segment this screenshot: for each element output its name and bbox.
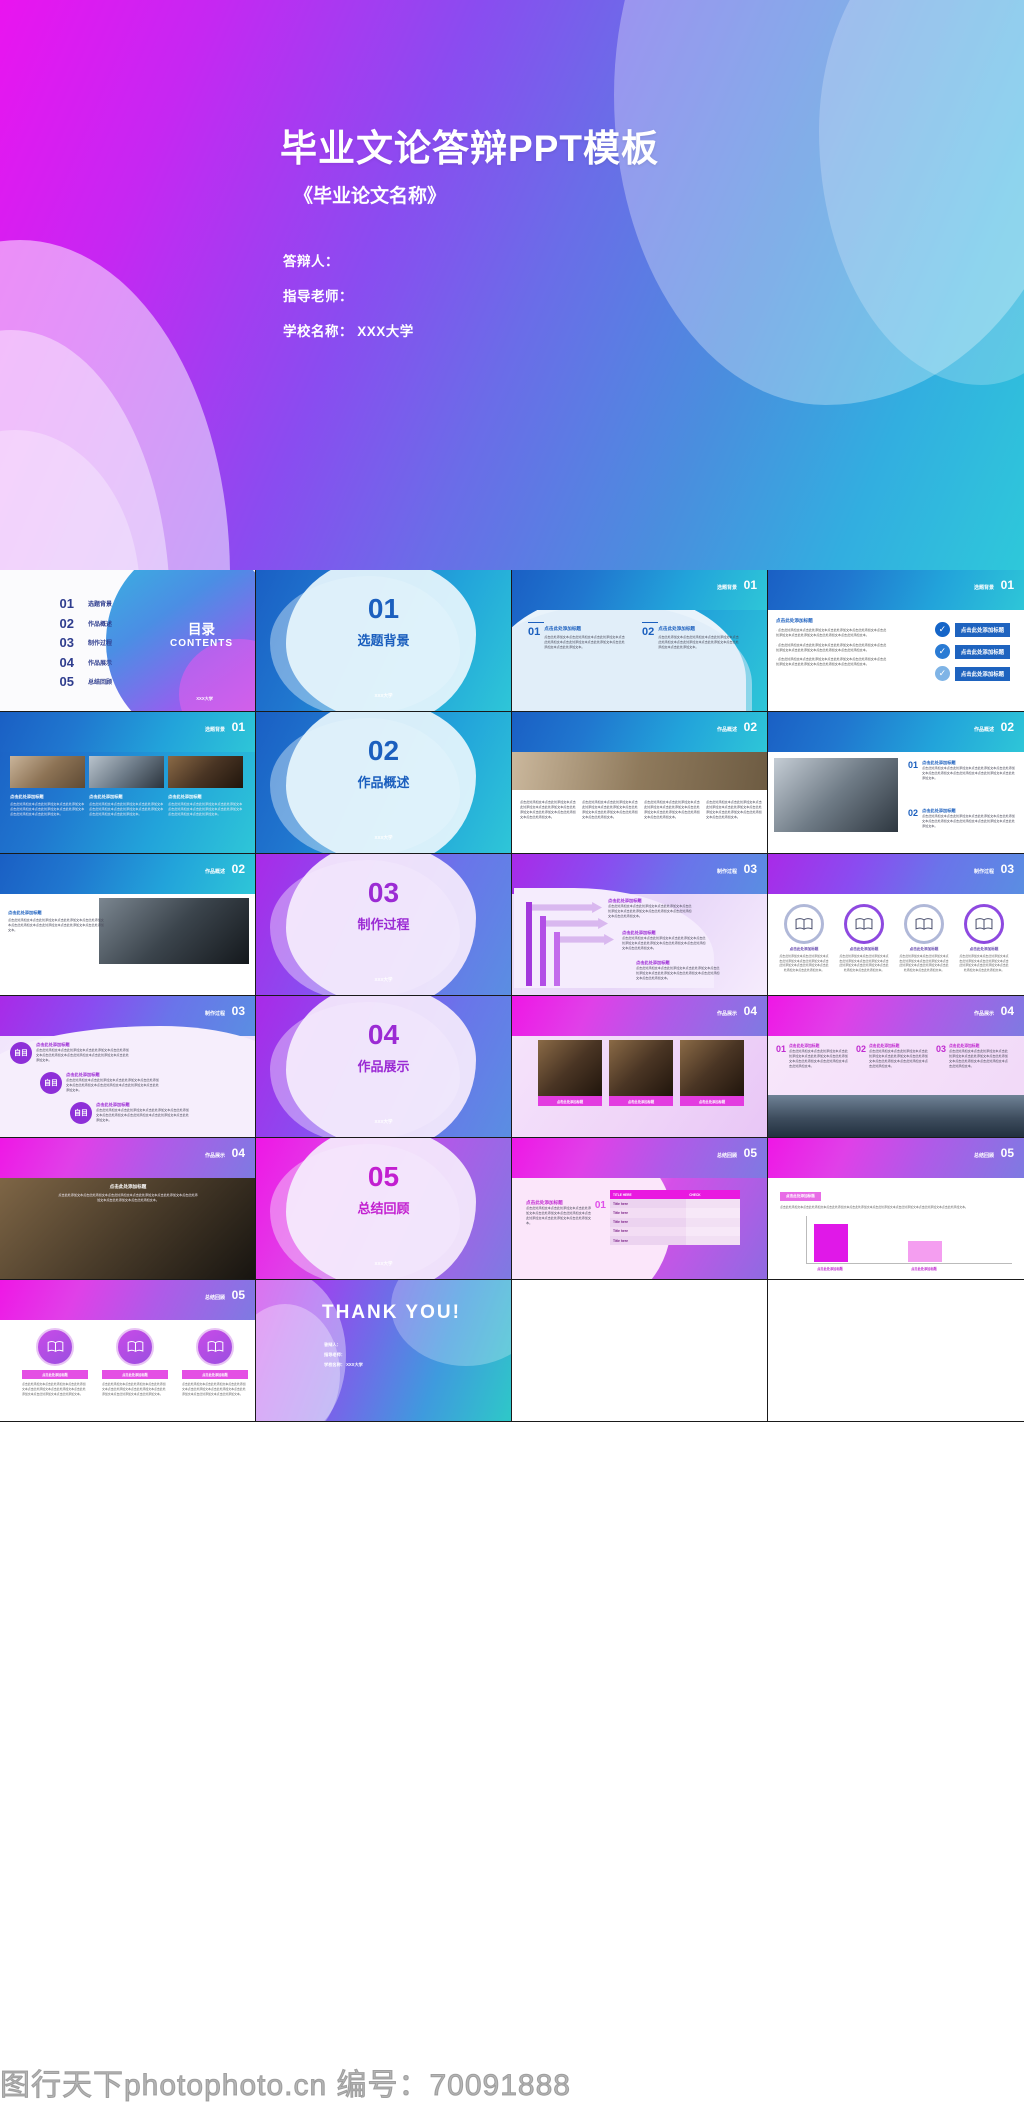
thank-you-slide: THANK YOU! 答辩人： 指导老师： 学校名称： XXX大学 bbox=[256, 1280, 511, 1421]
section-divider-slide: 01 选题背景 XXX大学 bbox=[256, 570, 511, 711]
block-number: 02 bbox=[642, 626, 654, 638]
table-row: Title here bbox=[610, 1208, 740, 1217]
circle-title: 点击此处添加标题 bbox=[778, 947, 830, 952]
slide-header-tag: 作品概述 bbox=[974, 726, 994, 733]
toc-item[interactable]: 01 选题背景 bbox=[40, 596, 112, 611]
divider-rule bbox=[528, 622, 544, 623]
circle-item: 点击此处添加标题 点击此处添加文本点击此处添加文本点击此处添加文本点击此处添加文… bbox=[102, 1328, 168, 1396]
page-subtitle: 《毕业论文名称》 bbox=[294, 181, 659, 208]
step-text: 点击此处添加标题点击此处添加文本点击此处添加文本点击此处添加文本点击此处添加文本… bbox=[608, 898, 692, 919]
slide-thumbnail[interactable]: 选题背景 01 点击此处添加标题 点击此处添加文本点击此处添加文本点击此处添加文… bbox=[0, 712, 256, 854]
slide-thumbnail[interactable]: 02 作品概述 XXX大学 bbox=[256, 712, 512, 854]
slide-header-tag: 选题背景 bbox=[974, 584, 994, 591]
check-icon: ✓ bbox=[935, 666, 950, 681]
table-cell-title: Title here bbox=[610, 1227, 686, 1236]
bar-category-label: 点击此处添加标题 bbox=[806, 1266, 854, 1271]
photo-placeholder bbox=[680, 1040, 744, 1096]
slide-university-label: XXX大学 bbox=[256, 693, 511, 699]
slide-header-bar: 选题背景 01 bbox=[768, 570, 1024, 610]
caption-block: 点击此处添加标题 点击此处添加文本点击此处添加文本点击此处添加文本点击此处添加文… bbox=[10, 794, 85, 817]
thanks-meta-school: 学校名称： XXX大学 bbox=[324, 1362, 363, 1368]
card-caption: 点击此处添加标题 bbox=[609, 1096, 673, 1106]
slide-header-tag: 总结回顾 bbox=[205, 1294, 225, 1301]
slide-thumbnail[interactable]: 总结回顾 05 点击此处添加标题 点击此处添加文本点击此处添加文本点击此处添加文… bbox=[0, 1280, 256, 1422]
circle-row: 点击此处添加标题 点击此处添加文本点击此处添加文本点击此处添加文本点击此处添加文… bbox=[22, 1328, 248, 1396]
three-number-slide: 作品展示 04 01 点击此处添加标题点击此处添加文本点击此处添加文本点击此处添… bbox=[768, 996, 1024, 1137]
book-icon-svg bbox=[975, 918, 993, 931]
checklist-label: 点击此处添加标题 bbox=[955, 645, 1010, 659]
block-number: 01 bbox=[528, 626, 540, 638]
numbered-text-block: 01 点击此处添加标题点击此处添加文本点击此处添加文本点击此处添加文本点击此处添… bbox=[908, 760, 1016, 781]
book-icon-svg bbox=[127, 1341, 144, 1353]
divider-rule bbox=[642, 622, 658, 623]
slide-header-number: 05 bbox=[232, 1288, 245, 1302]
slide-header-number: 03 bbox=[1001, 862, 1014, 876]
numbered-text-block: 02 点击此处添加标题 点击此处添加文本点击此处添加文本点击此处添加文本点击此处… bbox=[642, 622, 740, 650]
slide-thumbnail[interactable]: 作品概述 02 点击此处添加文本点击此处添加文本点击此处添加文本点击此处添加文本… bbox=[512, 712, 768, 854]
circle-item: 点击此处添加标题 点击此处添加文本点击此处添加文本点击此处添加文本点击此处添加文… bbox=[958, 904, 1010, 973]
book-icon-svg bbox=[207, 1341, 224, 1353]
slide-header-bar: 制作过程 03 bbox=[768, 854, 1024, 894]
circle-body: 点击此处添加文本点击此处添加文本点击此处添加文本点击此处添加文本点击此处添加文本… bbox=[958, 954, 1010, 973]
slide-header-tag: 作品展示 bbox=[717, 1010, 737, 1017]
slide-header-bar: 作品展示 04 bbox=[512, 996, 767, 1036]
slide-header-number: 01 bbox=[232, 720, 245, 734]
circle-row: 点击此处添加标题 点击此处添加文本点击此处添加文本点击此处添加文本点击此处添加文… bbox=[778, 904, 1010, 973]
slide-header-tag: 制作过程 bbox=[717, 868, 737, 875]
toc-heading: 目录 CONTENTS bbox=[170, 618, 233, 649]
slide-header-number: 05 bbox=[1001, 1146, 1014, 1160]
process-arrows-slide: 制作过程 03 点击此处添加标题点击此处添加文本点击此处添加文本点击此处添加文本… bbox=[512, 854, 767, 995]
hero-meta-school: 学校名称： XXX大学 bbox=[283, 320, 659, 340]
section-divider-slide: 03 制作过程 XXX大学 bbox=[256, 854, 511, 995]
circle-body: 点击此处添加文本点击此处添加文本点击此处添加文本点击此处添加文本点击此处添加文本… bbox=[182, 1382, 248, 1396]
badge-icon: 自目 bbox=[10, 1042, 32, 1064]
slide-header-tag: 选题背景 bbox=[717, 584, 737, 591]
toc-item[interactable]: 03 制作过程 bbox=[40, 635, 112, 650]
step-text: 点击此处添加标题点击此处添加文本点击此处添加文本点击此处添加文本点击此处添加文本… bbox=[622, 930, 706, 951]
circle-item: 点击此处添加标题 点击此处添加文本点击此处添加文本点击此处添加文本点击此处添加文… bbox=[182, 1328, 248, 1396]
caption-block: 点击此处添加标题 点击此处添加文本点击此处添加文本点击此处添加文本点击此处添加文… bbox=[89, 794, 164, 817]
slide-header-tag: 作品展示 bbox=[205, 1152, 225, 1159]
slide-header-number: 03 bbox=[744, 862, 757, 876]
slide-thumbnail[interactable]: 制作过程 03 点击此处添加标题点击此处添加文本点击此处添加文本点击此处添加文本… bbox=[512, 854, 768, 996]
block-title: 点击此处添加标题 bbox=[8, 910, 104, 916]
slide-header-tag: 制作过程 bbox=[205, 1010, 225, 1017]
slide-header-bar: 总结回顾 05 bbox=[768, 1138, 1024, 1178]
slide-header-number: 04 bbox=[744, 1004, 757, 1018]
step-item: 自目 点击此处添加标题 点击此处添加文本点击此处添加文本点击此处添加文本点击此处… bbox=[40, 1072, 160, 1094]
toc-item-number: 04 bbox=[40, 655, 74, 670]
overlay-body: 点击此处添加文本点击此处添加文本点击此处添加文本点击此处添加文本点击此处添加文本… bbox=[58, 1193, 198, 1204]
block-number: 02 bbox=[908, 808, 918, 829]
block-number: 01 bbox=[776, 1044, 786, 1054]
arrow-stem bbox=[554, 932, 560, 986]
step-item: 自目 点击此处添加标题 点击此处添加文本点击此处添加文本点击此处添加文本点击此处… bbox=[70, 1102, 190, 1124]
photo-placeholder bbox=[512, 752, 767, 790]
photo-right-slide: 作品概述 02 点击此处添加标题 点击此处添加文本点击此处添加文本点击此处添加文… bbox=[0, 854, 255, 995]
slide-thumbnail[interactable]: 05 总结回顾 XXX大学 bbox=[256, 1138, 512, 1280]
block-title: 点击此处添加标题 bbox=[776, 618, 888, 624]
circle-title: 点击此处添加标题 bbox=[958, 947, 1010, 952]
table-side-text: 点击此处添加标题点击此处添加文本点击此处添加文本点击此处添加文本点击此处添加文本… bbox=[526, 1200, 606, 1226]
book-icon bbox=[36, 1328, 74, 1366]
circle-body: 点击此处添加文本点击此处添加文本点击此处添加文本点击此处添加文本点击此处添加文本… bbox=[102, 1382, 168, 1396]
book-icon bbox=[116, 1328, 154, 1366]
toc-heading-cn: 目录 bbox=[170, 618, 233, 638]
table-cell-check bbox=[686, 1199, 740, 1208]
slide-header-number: 02 bbox=[232, 862, 245, 876]
toc-list: 01 选题背景 02 作品概述 03 制作过程 04 作品展示 05 总结回顾 bbox=[40, 596, 112, 694]
slide-header-bar: 作品概述 02 bbox=[768, 712, 1024, 752]
badge-icon: 自目 bbox=[40, 1072, 62, 1094]
photo-placeholder bbox=[538, 1040, 602, 1096]
photo-placeholder bbox=[99, 898, 249, 964]
divider-number: 04 bbox=[256, 1019, 511, 1051]
slide-thumbnail[interactable]: 04 作品展示 XXX大学 bbox=[256, 996, 512, 1138]
bar bbox=[908, 1241, 942, 1262]
slide-header-number: 01 bbox=[744, 578, 757, 592]
book-icon bbox=[784, 904, 824, 944]
toc-item[interactable]: 02 作品概述 bbox=[40, 616, 112, 631]
circle-title: 点击此处添加标题 bbox=[102, 1370, 168, 1379]
photo-placeholder bbox=[609, 1040, 673, 1096]
overlay-text: 点击此处添加标题 点击此处添加文本点击此处添加文本点击此处添加文本点击此处添加文… bbox=[58, 1184, 198, 1204]
numbered-text-block: 02 点击此处添加标题点击此处添加文本点击此处添加文本点击此处添加文本点击此处添… bbox=[856, 1044, 928, 1069]
divider-label: 选题背景 bbox=[256, 630, 511, 649]
slide-header-bar: 作品展示 04 bbox=[768, 996, 1024, 1036]
book-icon bbox=[904, 904, 944, 944]
step-item: 自目 点击此处添加标题 点击此处添加文本点击此处添加文本点击此处添加文本点击此处… bbox=[10, 1042, 130, 1064]
slide-thumbnail[interactable]: 作品概述 02 01 点击此处添加标题点击此处添加文本点击此处添加文本点击此处添… bbox=[768, 712, 1024, 854]
toc-item-label: 选题背景 bbox=[88, 599, 112, 608]
divider-number: 03 bbox=[256, 877, 511, 909]
slide-header-tag: 作品概述 bbox=[205, 868, 225, 875]
divider-number: 01 bbox=[256, 593, 511, 625]
slide-thumbnail[interactable]: 作品展示 04 点击此处添加标题 点击此处添加文本点击此处添加文本点击此处添加文… bbox=[0, 1138, 256, 1280]
hero-meta-presenter: 答辩人： bbox=[283, 250, 659, 270]
photo-left-slide: 作品概述 02 01 点击此处添加标题点击此处添加文本点击此处添加文本点击此处添… bbox=[768, 712, 1024, 853]
toc-item-number: 01 bbox=[40, 596, 74, 611]
watermark-text: 图行天下photophoto.cn 编号：70091888 bbox=[0, 2060, 571, 2104]
arrow-stem bbox=[526, 902, 532, 986]
circle-item: 点击此处添加标题 点击此处添加文本点击此处添加文本点击此处添加文本点击此处添加文… bbox=[22, 1328, 88, 1396]
toc-item-number: 03 bbox=[40, 635, 74, 650]
numbered-text-block: 03 点击此处添加标题点击此处添加文本点击此处添加文本点击此处添加文本点击此处添… bbox=[936, 1044, 1008, 1069]
toc-item-number: 02 bbox=[40, 616, 74, 631]
checklist-item[interactable]: ✓ 点击此处添加标题 bbox=[935, 622, 1010, 637]
slide-header-number: 01 bbox=[1001, 578, 1014, 592]
slide-header-bar: 总结回顾 05 bbox=[0, 1280, 255, 1320]
slide-thumbnail[interactable]: 01 选题背景 02 作品概述 03 制作过程 04 作品展示 05 总结回顾 … bbox=[0, 570, 256, 712]
slide-thumbnail[interactable]: 总结回顾 05 点击此处添加标题点击此处添加文本点击此处添加文本点击此处添加文本… bbox=[512, 1138, 768, 1280]
slide-header-bar: 作品概述 02 bbox=[512, 712, 767, 752]
slide-thumbnail[interactable]: THANK YOU! 答辩人： 指导老师： 学校名称： XXX大学 bbox=[256, 1280, 512, 1422]
section-divider-slide: 02 作品概述 XXX大学 bbox=[256, 712, 511, 853]
circle-title: 点击此处添加标题 bbox=[898, 947, 950, 952]
table-header-cell: CHECK bbox=[686, 1190, 740, 1199]
slide-thumbnail[interactable]: 作品概述 02 点击此处添加标题 点击此处添加文本点击此处添加文本点击此处添加文… bbox=[0, 854, 256, 996]
caption-title: 点击此处添加标题 bbox=[89, 794, 164, 800]
checklist-item[interactable]: ✓ 点击此处添加标题 bbox=[935, 644, 1010, 659]
card-row: 点击此处添加标题 点击此处添加标题 点击此处添加标题 bbox=[538, 1040, 744, 1106]
photo-row bbox=[10, 756, 243, 788]
thanks-meta-advisor: 指导老师： bbox=[324, 1352, 363, 1358]
slide-thumbnail[interactable]: 选题背景 01 点击此处添加标题 · 点击此处添加文本点击此处添加文本点击此处添… bbox=[768, 570, 1024, 712]
table-row: Title here bbox=[610, 1199, 740, 1208]
hero-meta-advisor: 指导老师： bbox=[283, 285, 659, 305]
slide-blob-2 bbox=[512, 604, 752, 711]
bar-category-label: 点击此处添加标题 bbox=[900, 1266, 948, 1271]
check-icon: ✓ bbox=[935, 644, 950, 659]
slide-thumbnail[interactable]: 制作过程 03 自目 点击此处添加标题 点击此处添加文本点击此处添加文本点击此处… bbox=[0, 996, 256, 1138]
divider-number: 02 bbox=[256, 735, 511, 767]
block-title: 点击此处添加标题 bbox=[544, 626, 626, 632]
circles-four-slide: 制作过程 03 点击此处添加标题 点击此处添加文本点击此处添加文本点击此处添加文… bbox=[768, 854, 1024, 995]
toc-item-number: 05 bbox=[40, 674, 74, 689]
slide-header-tag: 选题背景 bbox=[205, 726, 225, 733]
page-title: 毕业文论答辩PPT模板 bbox=[280, 128, 659, 171]
arrow-stem bbox=[540, 916, 546, 986]
slide-header-bar: 总结回顾 05 bbox=[512, 1138, 767, 1178]
section-divider-slide: 04 作品展示 XXX大学 bbox=[256, 996, 511, 1137]
slide-university-label: XXX大学 bbox=[196, 696, 213, 702]
bar bbox=[814, 1224, 848, 1262]
divider-label: 作品概述 bbox=[256, 772, 511, 791]
circle-item: 点击此处添加标题 点击此处添加文本点击此处添加文本点击此处添加文本点击此处添加文… bbox=[778, 904, 830, 973]
chart-block: 点击此处添加标题 点击此处添加文本点击此处添加文本点击此处添加文本点击此处添加文… bbox=[780, 1184, 1012, 1271]
chart-plot-area bbox=[806, 1216, 1012, 1264]
card-caption: 点击此处添加标题 bbox=[538, 1096, 602, 1106]
circle-body: 点击此处添加文本点击此处添加文本点击此处添加文本点击此处添加文本点击此处添加文本… bbox=[778, 954, 830, 973]
hero-meta-list: 答辩人： 指导老师： 学校名称： XXX大学 bbox=[283, 250, 659, 340]
bullet-3: · 点击此处添加文本点击此处添加文本点击此处添加文本点击此处添加文本点击此处添加… bbox=[776, 657, 888, 668]
caption-block: 点击此处添加标题 点击此处添加文本点击此处添加文本点击此处添加文本点击此处添加文… bbox=[168, 794, 243, 817]
slide-header-bar: 选题背景 01 bbox=[512, 570, 767, 610]
slide-header-tag: 总结回顾 bbox=[717, 1152, 737, 1159]
block-number: 02 bbox=[856, 1044, 866, 1054]
slide-university-label: XXX大学 bbox=[256, 977, 511, 983]
bar-group bbox=[807, 1216, 855, 1262]
slide-thumbnail[interactable]: 总结回顾 05 点击此处添加标题 点击此处添加文本点击此处添加文本点击此处添加文… bbox=[768, 1138, 1024, 1280]
two-column-slide: 选题背景 01 01 点击此处添加标题 点击此处添加文本点击此处添加文本点击此处… bbox=[512, 570, 767, 711]
slide-thumbnail-grid: 01 选题背景 02 作品概述 03 制作过程 04 作品展示 05 总结回顾 … bbox=[0, 570, 1024, 1422]
chart-description: 点击此处添加文本点击此处添加文本点击此处添加文本点击此处添加文本点击此处添加文本… bbox=[780, 1205, 1012, 1210]
table-row: Title here bbox=[610, 1218, 740, 1227]
bar-group bbox=[901, 1216, 949, 1262]
slide-thumbnail[interactable]: 选题背景 01 01 点击此处添加标题 点击此处添加文本点击此处添加文本点击此处… bbox=[512, 570, 768, 712]
slide-thumbnail-empty bbox=[768, 1280, 1024, 1422]
photo-wide-slide: 作品概述 02 点击此处添加文本点击此处添加文本点击此处添加文本点击此处添加文本… bbox=[512, 712, 767, 853]
numbered-text-block: 01 点击此处添加标题 点击此处添加文本点击此处添加文本点击此处添加文本点击此处… bbox=[528, 622, 626, 650]
slide-header-bar: 作品展示 04 bbox=[0, 1138, 255, 1178]
slide-header-tag: 作品概述 bbox=[717, 726, 737, 733]
slide-header-number: 03 bbox=[232, 1004, 245, 1018]
photo-placeholder bbox=[168, 756, 243, 788]
photo-three-slide: 选题背景 01 点击此处添加标题 点击此处添加文本点击此处添加文本点击此处添加文… bbox=[0, 712, 255, 853]
table-cell-check bbox=[686, 1236, 740, 1245]
book-icon bbox=[844, 904, 884, 944]
slide-header-number: 04 bbox=[1001, 1004, 1014, 1018]
divider-label: 总结回顾 bbox=[256, 1198, 511, 1217]
numbered-text-block: 01 点击此处添加标题点击此处添加文本点击此处添加文本点击此处添加文本点击此处添… bbox=[776, 1044, 848, 1069]
cards-three-slide: 作品展示 04 点击此处添加标题 点击此处添加标题 点击此处添加标题 bbox=[512, 996, 767, 1137]
thanks-meta: 答辩人： 指导老师： 学校名称： XXX大学 bbox=[324, 1342, 363, 1368]
slide-thumbnail[interactable]: 制作过程 03 点击此处添加标题 点击此处添加文本点击此处添加文本点击此处添加文… bbox=[768, 854, 1024, 996]
slide-university-label: XXX大学 bbox=[256, 1261, 511, 1267]
toc-item-label: 总结回顾 bbox=[88, 677, 112, 686]
slide-header-tag: 制作过程 bbox=[974, 868, 994, 875]
chart-title: 点击此处添加标题 bbox=[780, 1192, 821, 1201]
book-icon-svg bbox=[47, 1341, 64, 1353]
slide-header-bar: 作品概述 02 bbox=[0, 854, 255, 894]
bullet-2: · 点击此处添加文本点击此处添加文本点击此处添加文本点击此处添加文本点击此处添加… bbox=[776, 643, 888, 654]
circle-title: 点击此处添加标题 bbox=[182, 1370, 248, 1379]
block-title: 点击此处添加标题 bbox=[58, 1184, 198, 1190]
circle-body: 点击此处添加文本点击此处添加文本点击此处添加文本点击此处添加文本点击此处添加文本… bbox=[838, 954, 890, 973]
divider-label: 作品展示 bbox=[256, 1056, 511, 1075]
circle-title: 点击此处添加标题 bbox=[838, 947, 890, 952]
block-number: 03 bbox=[936, 1044, 946, 1054]
circle-body: 点击此处添加文本点击此处添加文本点击此处添加文本点击此处添加文本点击此处添加文本… bbox=[898, 954, 950, 973]
numbered-text-block: 02 点击此处添加标题点击此处添加文本点击此处添加文本点击此处添加文本点击此处添… bbox=[908, 808, 1016, 829]
table-row: Title here bbox=[610, 1236, 740, 1245]
caption-title: 点击此处添加标题 bbox=[10, 794, 85, 800]
text-block: 点击此处添加标题 点击此处添加文本点击此处添加文本点击此处添加文本点击此处添加文… bbox=[8, 910, 104, 933]
slide-thumbnail[interactable]: 01 选题背景 XXX大学 bbox=[256, 570, 512, 712]
table-slide: 总结回顾 05 点击此处添加标题点击此处添加文本点击此处添加文本点击此处添加文本… bbox=[512, 1138, 767, 1279]
slide-thumbnail[interactable]: 03 制作过程 XXX大学 bbox=[256, 854, 512, 996]
table-cell-check bbox=[686, 1208, 740, 1217]
photo-placeholder bbox=[768, 1095, 1024, 1137]
table-cell-title: Title here bbox=[610, 1236, 686, 1245]
title-slide: 毕业文论答辩PPT模板 《毕业论文名称》 答辩人： 指导老师： 学校名称： XX… bbox=[0, 0, 1024, 570]
slide-thumbnail[interactable]: 作品展示 04 01 点击此处添加标题点击此处添加文本点击此处添加文本点击此处添… bbox=[768, 996, 1024, 1138]
table-cell-check bbox=[686, 1218, 740, 1227]
checklist-text-col: 点击此处添加标题 · 点击此处添加文本点击此处添加文本点击此处添加文本点击此处添… bbox=[776, 618, 888, 668]
photo-text-slide: 作品展示 04 点击此处添加标题 点击此处添加文本点击此处添加文本点击此处添加文… bbox=[0, 1138, 255, 1279]
card-item: 点击此处添加标题 bbox=[538, 1040, 602, 1106]
toc-item[interactable]: 04 作品展示 bbox=[40, 655, 112, 670]
checklist-label: 点击此处添加标题 bbox=[955, 623, 1010, 637]
toc-item-label: 作品概述 bbox=[88, 619, 112, 628]
slide-header-tag: 总结回顾 bbox=[974, 1152, 994, 1159]
check-icon: ✓ bbox=[935, 622, 950, 637]
bullet-1: · 点击此处添加文本点击此处添加文本点击此处添加文本点击此处添加文本点击此处添加… bbox=[776, 628, 888, 639]
watermark: 图行天下photophoto.cn 编号：70091888 bbox=[0, 2052, 1024, 2112]
toc-heading-en: CONTENTS bbox=[170, 638, 233, 649]
step-text: 点击此处添加标题点击此处添加文本点击此处添加文本点击此处添加文本点击此处添加文本… bbox=[636, 960, 720, 981]
checklist-slide: 选题背景 01 点击此处添加标题 · 点击此处添加文本点击此处添加文本点击此处添… bbox=[768, 570, 1024, 711]
badge-icon: 自目 bbox=[70, 1102, 92, 1124]
divider-number: 05 bbox=[256, 1161, 511, 1193]
slide-header-number: 04 bbox=[232, 1146, 245, 1160]
photo-placeholder bbox=[89, 756, 164, 788]
slide-header-number: 02 bbox=[1001, 720, 1014, 734]
block-title: 点击此处添加标题 bbox=[658, 626, 740, 632]
block-number: 01 bbox=[595, 1200, 606, 1211]
bar-chart-slide: 总结回顾 05 点击此处添加标题 点击此处添加文本点击此处添加文本点击此处添加文… bbox=[768, 1138, 1024, 1279]
photo-placeholder bbox=[774, 758, 898, 832]
block-number: 01 bbox=[908, 760, 918, 781]
slide-header-tag: 作品展示 bbox=[974, 1010, 994, 1017]
table-cell-check bbox=[686, 1227, 740, 1236]
table-cell-title: Title here bbox=[610, 1199, 686, 1208]
chart-axis-labels: 点击此处添加标题点击此处添加标题 bbox=[806, 1266, 1012, 1271]
card-caption: 点击此处添加标题 bbox=[680, 1096, 744, 1106]
text-row: 点击此处添加文本点击此处添加文本点击此处添加文本点击此处添加文本点击此处添加文本… bbox=[520, 800, 762, 820]
table-cell-title: Title here bbox=[610, 1208, 686, 1217]
thanks-title: THANK YOU! bbox=[322, 1302, 461, 1324]
toc-item-label: 制作过程 bbox=[88, 638, 112, 647]
card-item: 点击此处添加标题 bbox=[680, 1040, 744, 1106]
book-icon-svg bbox=[795, 918, 813, 931]
steps-slide: 制作过程 03 自目 点击此处添加标题 点击此处添加文本点击此处添加文本点击此处… bbox=[0, 996, 255, 1137]
checklist-item[interactable]: ✓ 点击此处添加标题 bbox=[935, 666, 1010, 681]
photo-placeholder bbox=[10, 756, 85, 788]
book-icon-svg bbox=[915, 918, 933, 931]
book-icon-svg bbox=[855, 918, 873, 931]
table-cell-title: Title here bbox=[610, 1218, 686, 1227]
section-divider-slide: 05 总结回顾 XXX大学 bbox=[256, 1138, 511, 1279]
caption-title: 点击此处添加标题 bbox=[168, 794, 243, 800]
slide-header-number: 05 bbox=[744, 1146, 757, 1160]
circles-three-slide: 总结回顾 05 点击此处添加标题 点击此处添加文本点击此处添加文本点击此处添加文… bbox=[0, 1280, 255, 1421]
checklist-label: 点击此处添加标题 bbox=[955, 667, 1010, 681]
checklist-items: ✓ 点击此处添加标题 ✓ 点击此处添加标题 ✓ 点击此处添加标题 bbox=[935, 622, 1010, 688]
slide-header-number: 02 bbox=[744, 720, 757, 734]
thanks-meta-presenter: 答辩人： bbox=[324, 1342, 363, 1348]
caption-row: 点击此处添加标题 点击此处添加文本点击此处添加文本点击此处添加文本点击此处添加文… bbox=[10, 794, 243, 817]
toc-item[interactable]: 05 总结回顾 bbox=[40, 674, 112, 689]
circle-item: 点击此处添加标题 点击此处添加文本点击此处添加文本点击此处添加文本点击此处添加文… bbox=[838, 904, 890, 973]
slide-university-label: XXX大学 bbox=[256, 1119, 511, 1125]
slide-thumbnail[interactable]: 作品展示 04 点击此处添加标题 点击此处添加标题 点击此处添加标题 bbox=[512, 996, 768, 1138]
book-icon bbox=[964, 904, 1004, 944]
circle-title: 点击此处添加标题 bbox=[22, 1370, 88, 1379]
slide-header-bar: 选题背景 01 bbox=[0, 712, 255, 752]
divider-label: 制作过程 bbox=[256, 914, 511, 933]
table-row: Title here bbox=[610, 1227, 740, 1236]
circle-item: 点击此处添加标题 点击此处添加文本点击此处添加文本点击此处添加文本点击此处添加文… bbox=[898, 904, 950, 973]
toc-item-label: 作品展示 bbox=[88, 658, 112, 667]
slide-thumbnail-empty bbox=[512, 1280, 768, 1422]
slide-university-label: XXX大学 bbox=[256, 835, 511, 841]
table-header-cell: TITLE HERE bbox=[610, 1190, 686, 1199]
book-icon bbox=[196, 1328, 234, 1366]
card-item: 点击此处添加标题 bbox=[609, 1040, 673, 1106]
data-table: TITLE HERECHECK Title here Title here Ti… bbox=[610, 1190, 740, 1245]
circle-body: 点击此处添加文本点击此处添加文本点击此处添加文本点击此处添加文本点击此处添加文本… bbox=[22, 1382, 88, 1396]
